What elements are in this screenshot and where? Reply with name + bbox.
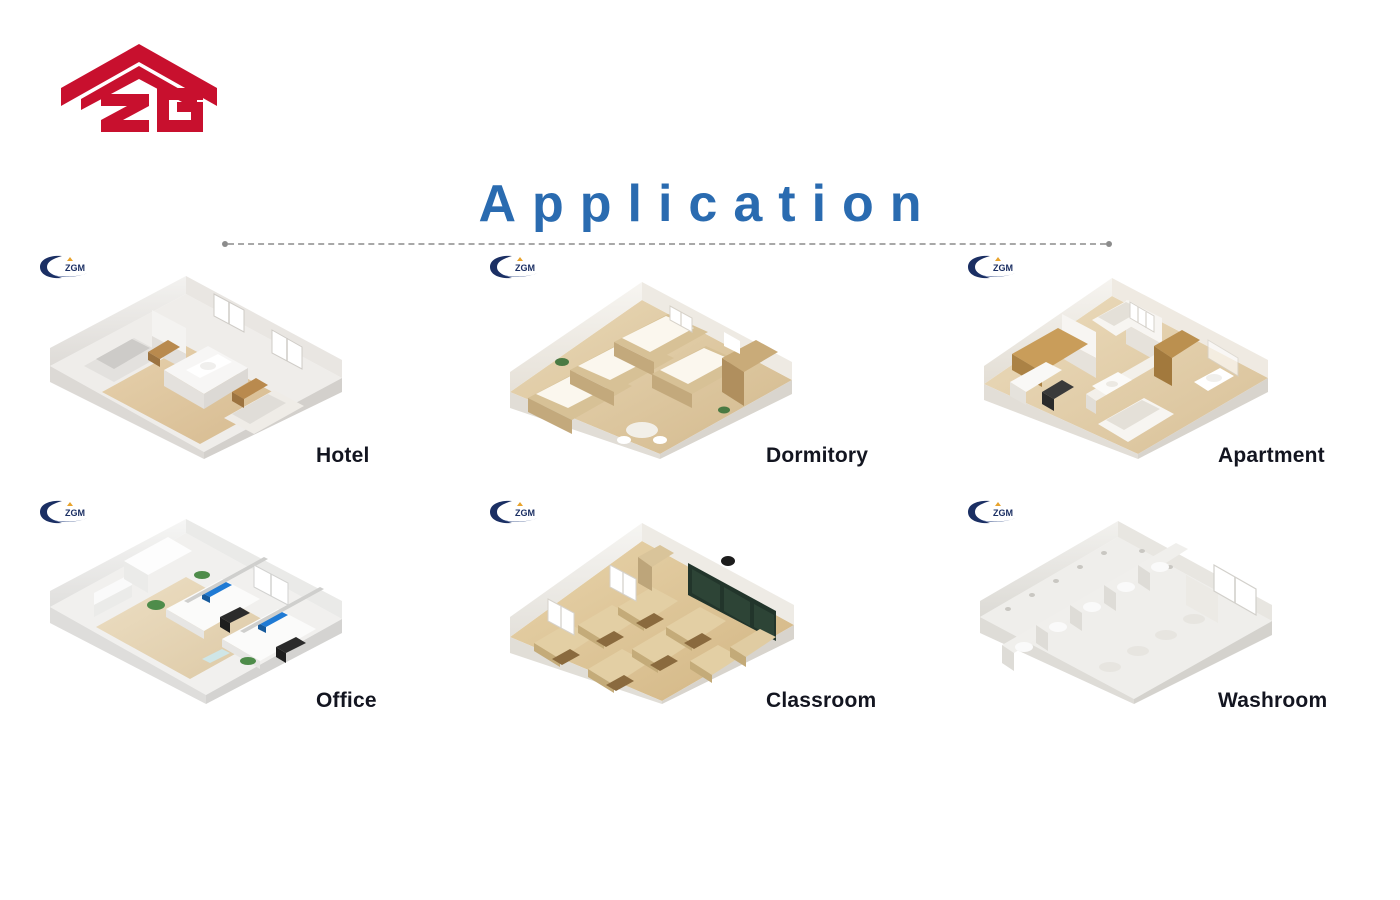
title-divider <box>222 241 1112 247</box>
svg-text:ZGM: ZGM <box>65 508 85 518</box>
hotel-floorplan-3d-render <box>36 274 356 459</box>
application-card-classroom[interactable]: ZGM <box>476 497 926 742</box>
application-card-hotel[interactable]: ZGM <box>26 252 476 497</box>
svg-text:ZGM: ZGM <box>993 508 1013 518</box>
card-label-office: Office <box>316 689 377 713</box>
application-card-washroom[interactable]: ZGM <box>966 497 1400 742</box>
office-floorplan-3d-render <box>36 519 356 704</box>
application-card-office[interactable]: ZGM <box>26 497 476 742</box>
card-label-washroom: Washroom <box>1218 689 1327 713</box>
svg-text:ZGM: ZGM <box>515 508 535 518</box>
svg-text:ZGM: ZGM <box>993 263 1013 273</box>
application-slide: Application ZGM <box>0 0 1400 900</box>
svg-text:ZGM: ZGM <box>65 263 85 273</box>
card-label-classroom: Classroom <box>766 689 876 713</box>
divider-dot-right <box>1106 241 1112 247</box>
card-label-dormitory: Dormitory <box>766 444 868 468</box>
washroom-floorplan-3d-render <box>966 519 1286 704</box>
divider-rule <box>228 243 1106 245</box>
dormitory-floorplan-3d-render <box>492 274 812 459</box>
application-grid: ZGM <box>26 252 1376 752</box>
application-card-dormitory[interactable]: ZGM <box>476 252 926 497</box>
svg-text:ZGM: ZGM <box>515 263 535 273</box>
page-title-block: Application <box>0 178 1400 230</box>
card-label-apartment: Apartment <box>1218 444 1325 468</box>
classroom-floorplan-3d-render <box>492 519 812 704</box>
apartment-floorplan-3d-render <box>966 274 1286 459</box>
card-label-hotel: Hotel <box>316 444 370 468</box>
page-title: Application <box>0 178 1400 230</box>
zg-house-logo-icon <box>57 36 222 136</box>
application-card-apartment[interactable]: ZGM <box>966 252 1400 497</box>
